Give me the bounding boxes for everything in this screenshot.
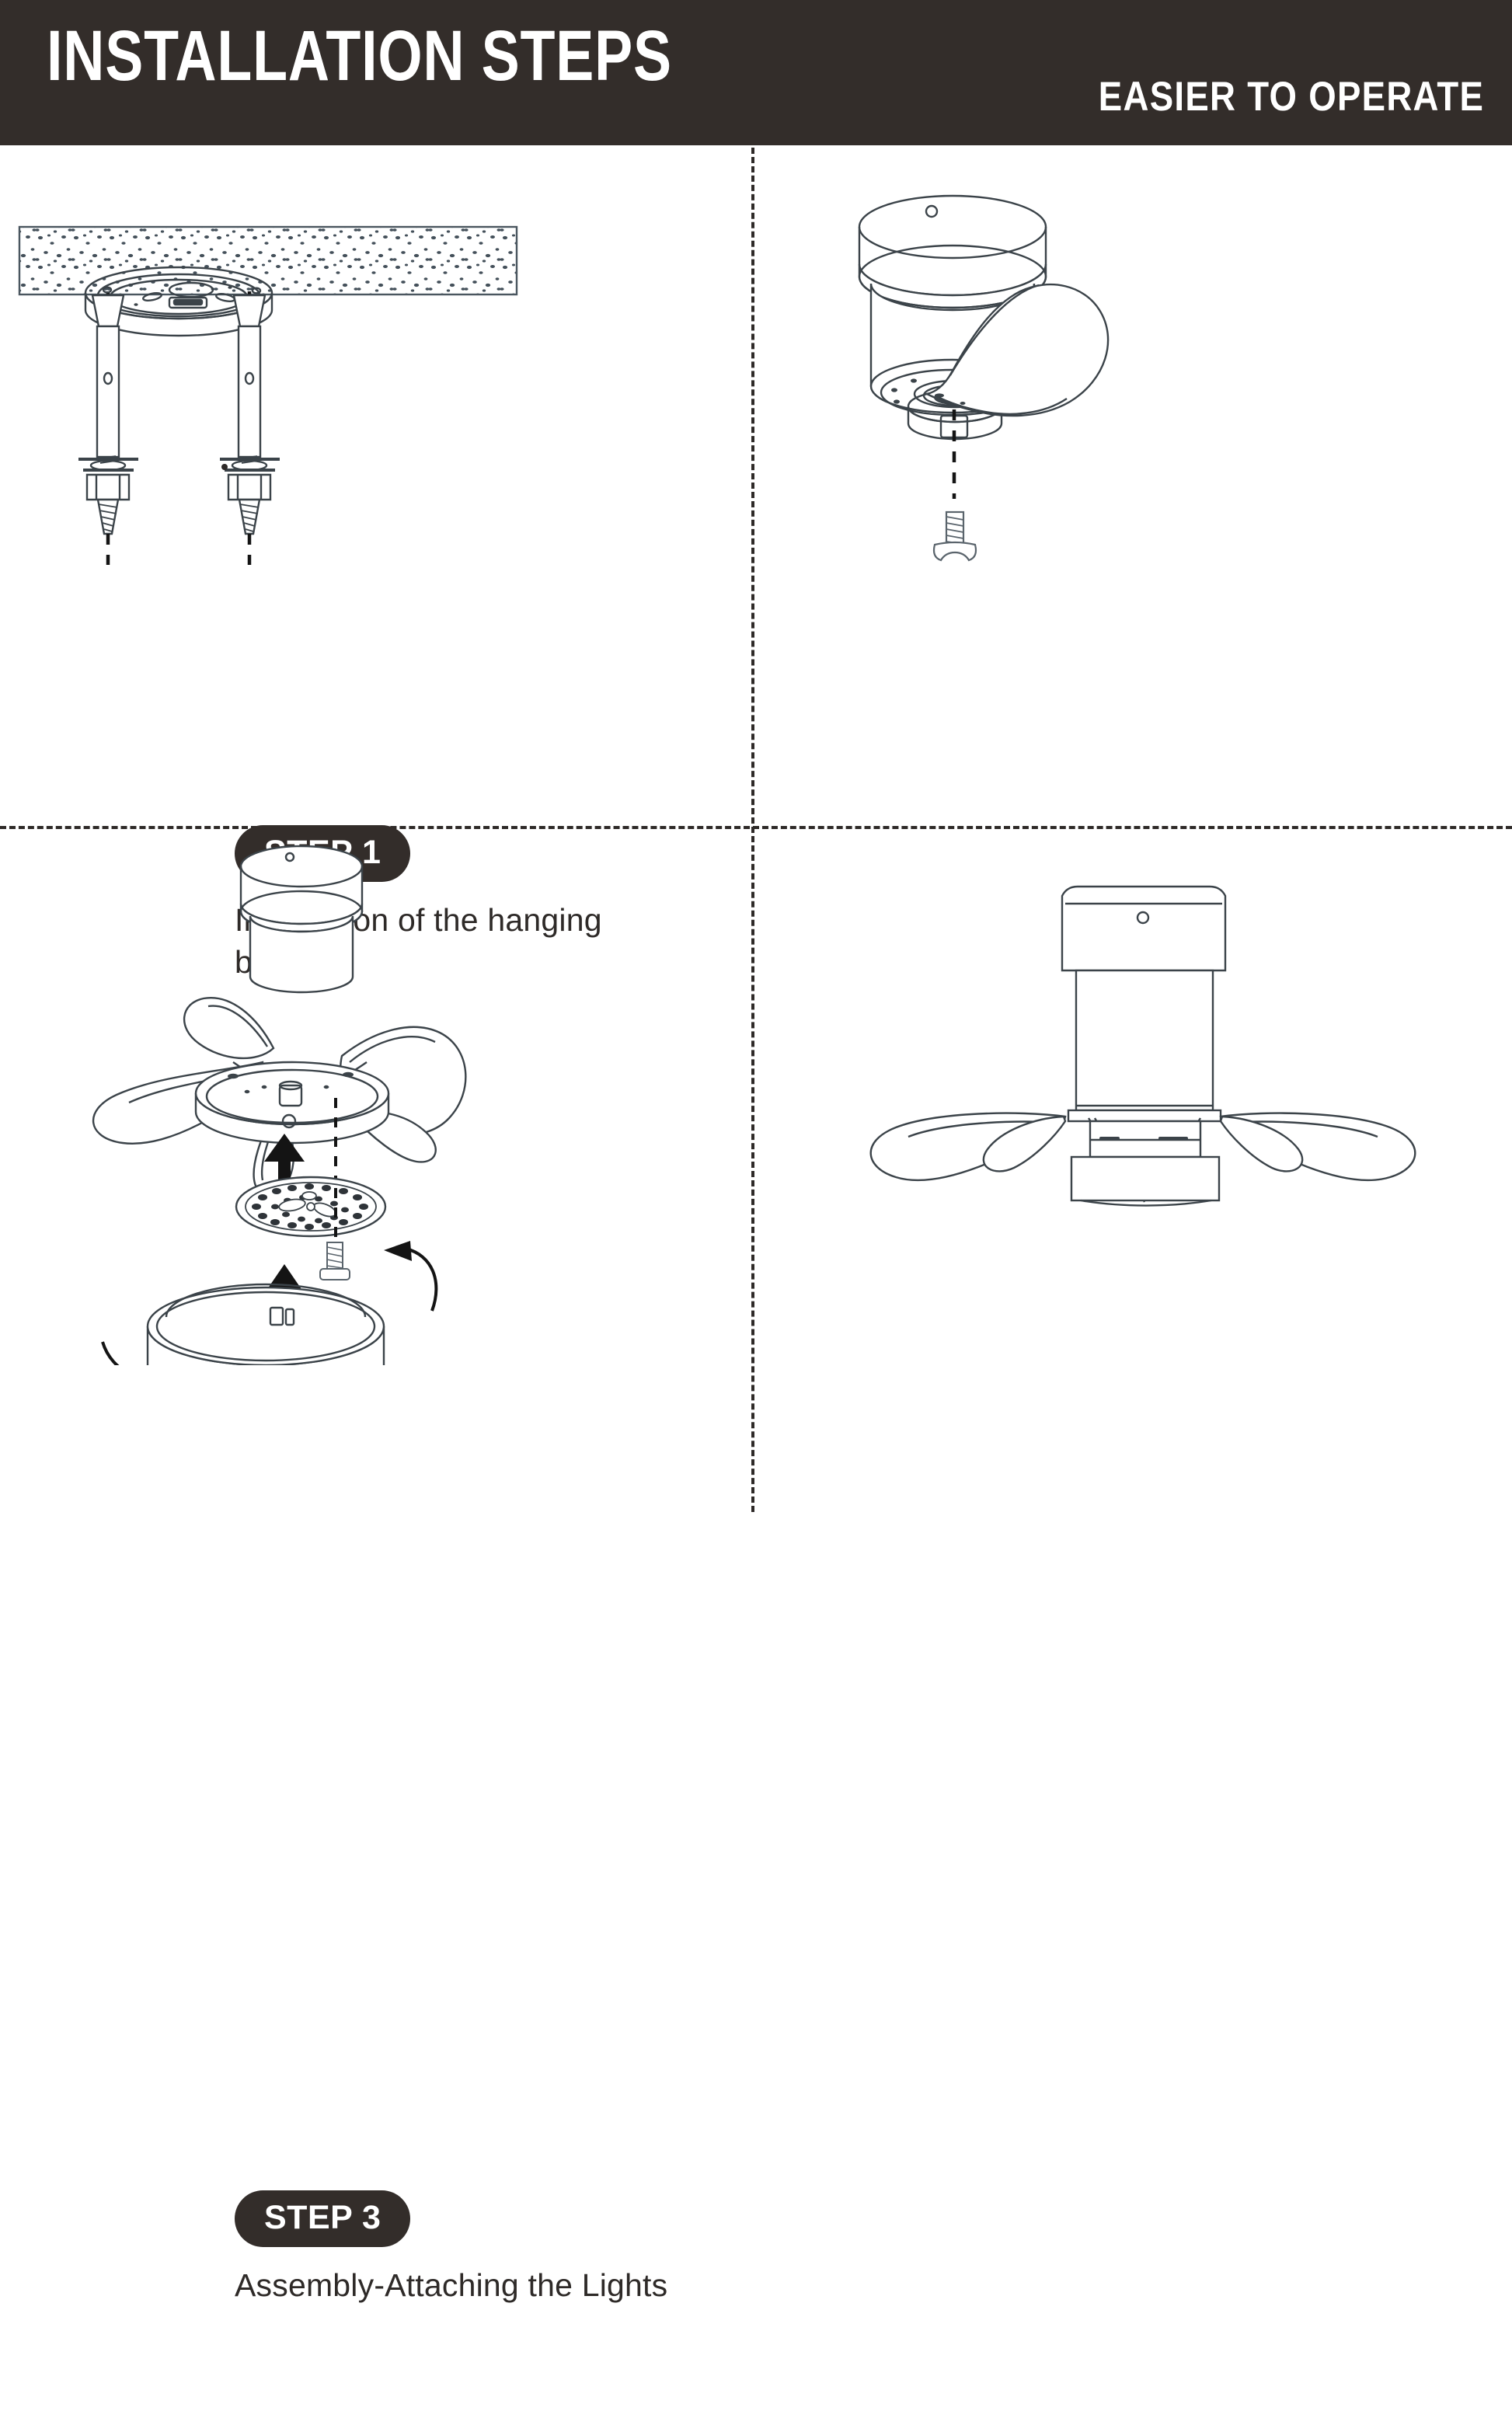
motor-body: [1076, 970, 1213, 1110]
step-1-panel: STEP 1 Installation of the hanging brack…: [0, 145, 751, 826]
step-4-illustration: [754, 829, 1512, 1365]
lamp-body: [1071, 1121, 1219, 1206]
step-2-panel: STEP 2 Fastening the blade arms to the m…: [754, 145, 1512, 826]
fan-hub-plate: [196, 1062, 388, 1143]
light-cover: [148, 1284, 384, 1365]
step-4-panel: STEP 4 Fixed lamp body installation comp…: [754, 829, 1512, 1512]
step-2-illustration: [754, 145, 1512, 689]
rotation-arrow-right-head: [384, 1241, 412, 1261]
led-assembly: [236, 1177, 385, 1236]
header-subtitle: EASIER TO OPERATE: [1099, 73, 1484, 120]
page-title: INSTALLATION STEPS: [47, 19, 672, 94]
blade-mounting-screw: [934, 512, 976, 560]
installation-steps-poster: INSTALLATION STEPS EASIER TO OPERATE: [0, 0, 1512, 1512]
step-3-badge: STEP 3: [235, 2190, 410, 2247]
header-bar: INSTALLATION STEPS EASIER TO OPERATE: [0, 0, 1512, 145]
step-1-illustration: [0, 145, 751, 689]
hub-plate: [1068, 1110, 1221, 1121]
led-mounting-screw: [320, 1242, 350, 1280]
step-3-caption-text: Assembly-Attaching the Lights: [235, 2264, 667, 2306]
motor-housing: [241, 846, 362, 992]
canopy: [1062, 887, 1225, 970]
step-3-panel: STEP 3 Assembly-Attaching the Lights: [0, 829, 751, 1512]
step-3-illustration: [0, 829, 751, 1365]
step-3-caption-block: STEP 3 Assembly-Attaching the Lights: [235, 2190, 667, 2306]
